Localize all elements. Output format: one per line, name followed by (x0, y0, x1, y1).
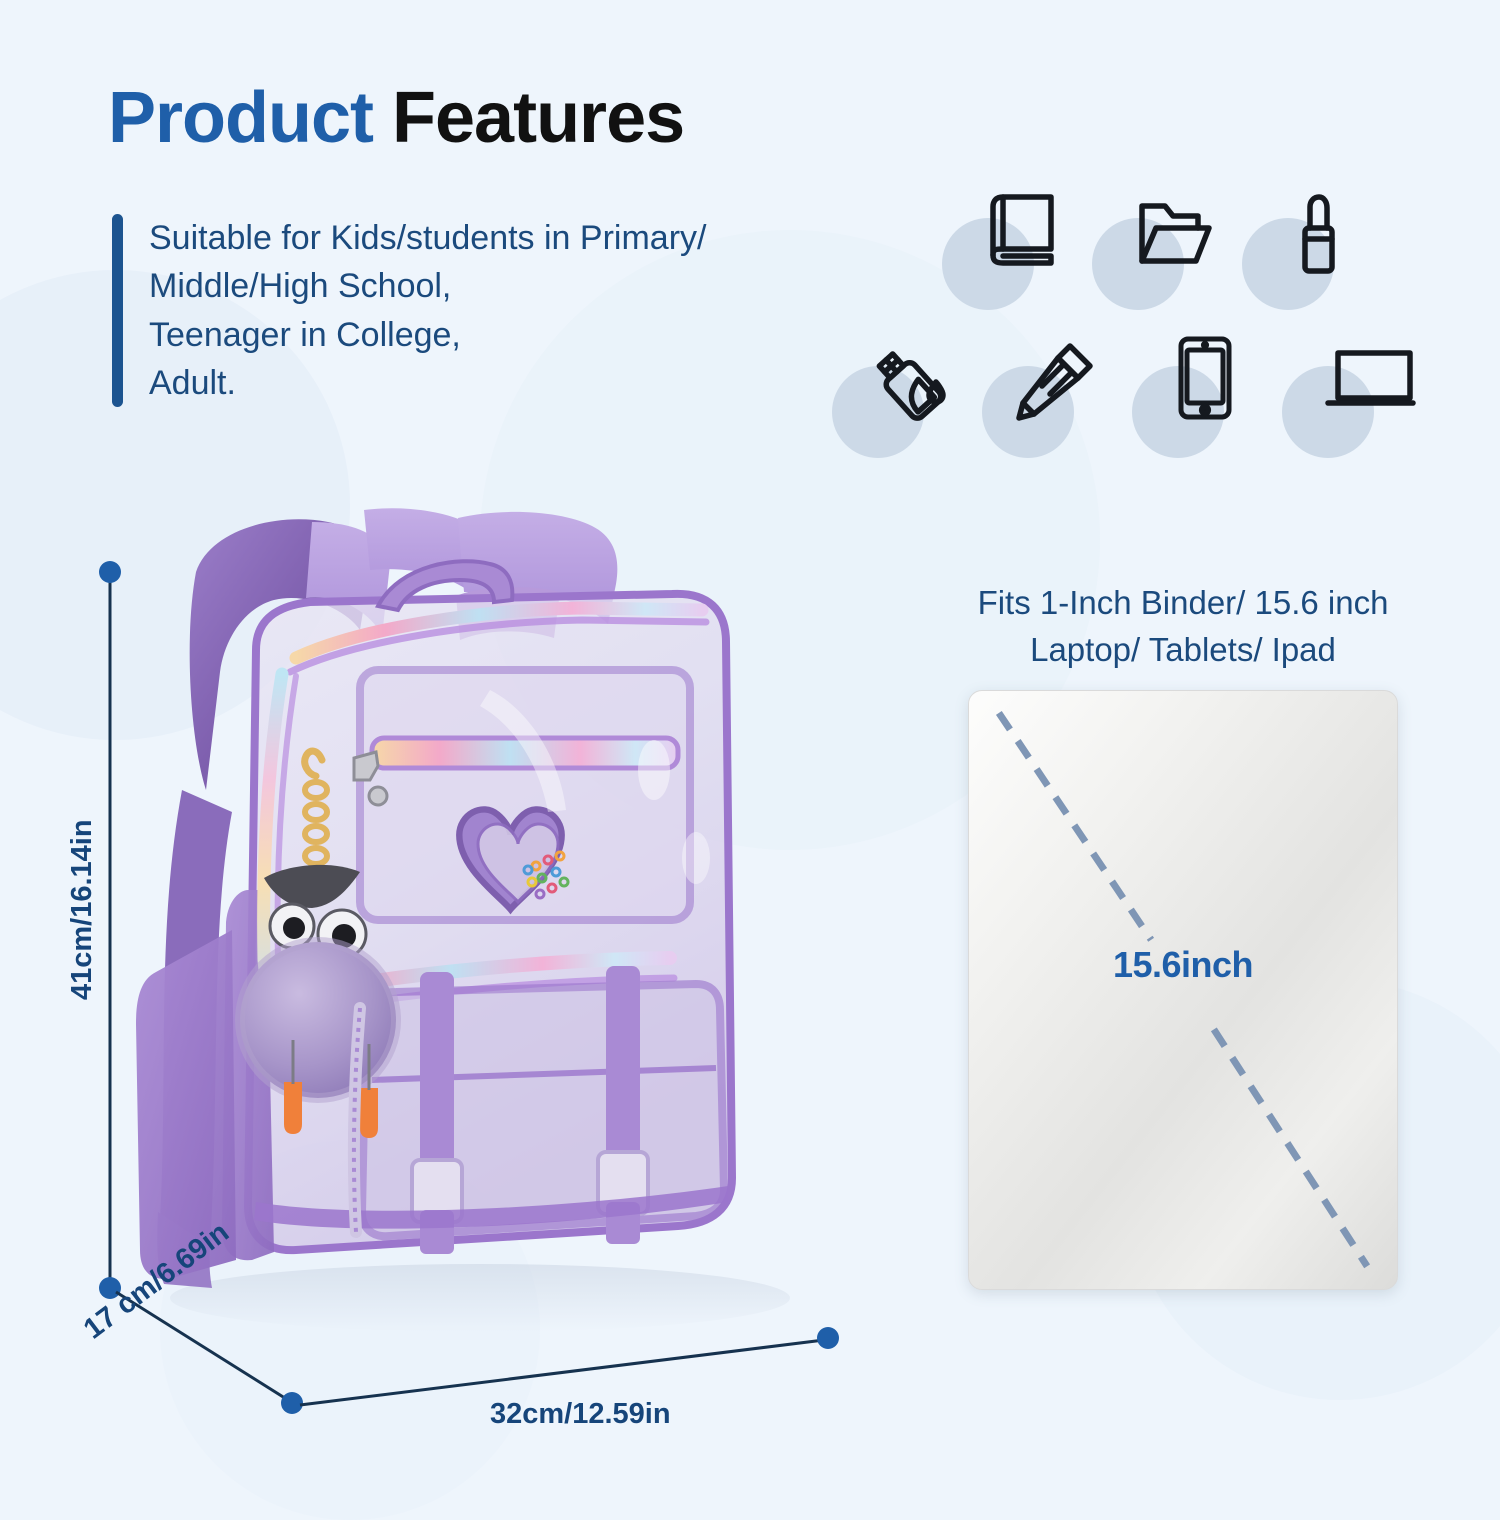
pencil-icon (1014, 342, 1094, 422)
icon-cell-laptop (1272, 334, 1422, 466)
icon-cell-pencil (972, 334, 1122, 466)
dimension-width-label: 32cm/12.59in (490, 1398, 671, 1431)
fits-description: Fits 1-Inch Binder/ 15.6 inch Laptop/ Ta… (968, 580, 1398, 674)
folder-icon (1138, 200, 1212, 266)
infographic-canvas: Product Features Suitable for Kids/stude… (0, 0, 1500, 1500)
water-bottle-icon (866, 338, 952, 424)
laptop-diagonal-dash (969, 691, 1397, 1288)
feature-description: Suitable for Kids/students in Primary/ M… (149, 214, 706, 407)
icon-row-1 (932, 186, 1442, 318)
icon-cell-water-bottle (822, 334, 972, 466)
icon-cell-tablet (1122, 334, 1272, 466)
feature-accent-bar (112, 214, 123, 407)
laptop-icon (1324, 350, 1416, 412)
lipstick-icon (1296, 194, 1338, 274)
feature-callout: Suitable for Kids/students in Primary/ M… (112, 214, 706, 407)
icon-cell-book (932, 186, 1082, 318)
laptop-size-label: 15.6inch (969, 944, 1397, 986)
dimension-height-label: 41cm/16.14in (66, 819, 99, 1000)
book-icon (990, 192, 1056, 268)
page-title-word-product: Product (108, 78, 373, 158)
tablet-icon (1178, 336, 1232, 420)
icon-row-2 (822, 334, 1442, 466)
laptop-illustration: 15.6inch (968, 690, 1398, 1290)
compatible-items-icon-grid (822, 186, 1442, 466)
icon-cell-lipstick (1232, 186, 1382, 318)
product-photo-backpack (60, 460, 860, 1360)
page-title-word-features: Features (392, 78, 684, 158)
icon-cell-folder (1082, 186, 1232, 318)
page-title: Product Features (108, 82, 684, 154)
